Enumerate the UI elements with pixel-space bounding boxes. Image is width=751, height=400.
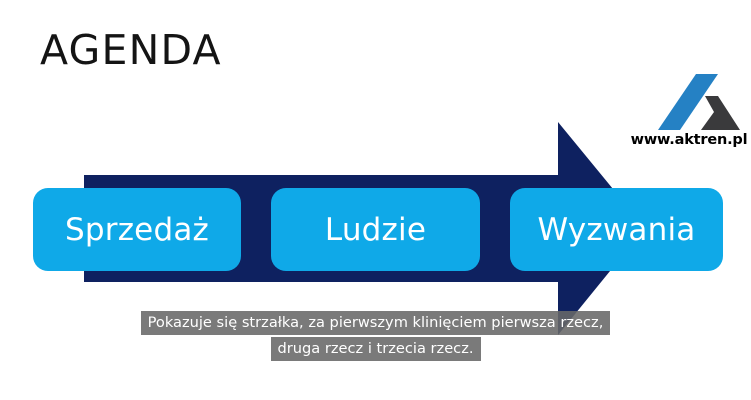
step-label: Ludzie bbox=[325, 213, 426, 247]
step-box-wyzwania[interactable]: Wyzwania bbox=[510, 188, 723, 271]
logo-url-text: www.aktren.pl bbox=[630, 132, 748, 148]
step-label: Sprzedaż bbox=[65, 213, 209, 247]
slide-canvas: AGENDA Sprzedaż Ludzie Wyzwania www.aktr… bbox=[0, 0, 751, 400]
step-label: Wyzwania bbox=[538, 213, 696, 247]
step-box-sprzedaz[interactable]: Sprzedaż bbox=[33, 188, 241, 271]
logo: www.aktren.pl bbox=[630, 74, 748, 166]
page-title: AGENDA bbox=[40, 26, 222, 74]
caption-line-2: druga rzecz i trzecia rzecz. bbox=[271, 337, 481, 361]
caption-block: Pokazuje się strzałka, za pierwszym klin… bbox=[0, 311, 751, 361]
aktren-logo-icon bbox=[658, 74, 740, 130]
caption-line-1: Pokazuje się strzałka, za pierwszym klin… bbox=[141, 311, 611, 335]
step-box-ludzie[interactable]: Ludzie bbox=[271, 188, 480, 271]
